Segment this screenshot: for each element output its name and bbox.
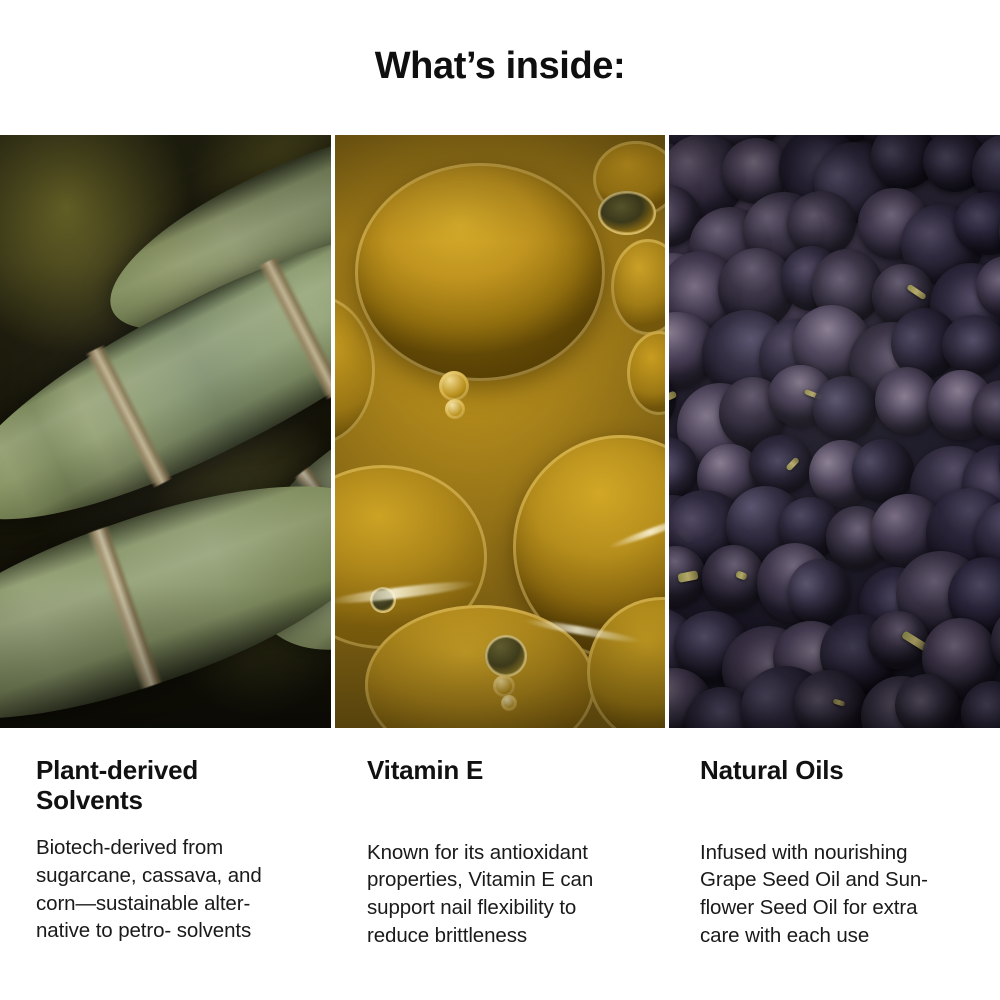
- grapes-photo: [669, 135, 1000, 728]
- column-body: Infused with nourishing Grape Seed Oil a…: [700, 839, 978, 950]
- column-plant-derived-solvents: Plant-derived Solvents Biotech-derived f…: [0, 728, 331, 1000]
- oil-bubble-large: [355, 163, 605, 381]
- oil-bubble-small: [445, 399, 465, 419]
- ingredients-infographic: What’s inside:: [0, 0, 1000, 1000]
- column-heading: Natural Oils: [700, 756, 978, 786]
- header-bar: What’s inside:: [0, 0, 1000, 135]
- column-heading: Vitamin E: [367, 756, 648, 786]
- oil-bubble-dark: [598, 191, 656, 235]
- grape: [942, 315, 1000, 374]
- grape: [788, 559, 851, 625]
- sugarcane-node: [87, 526, 163, 690]
- sugarcane-node: [85, 344, 173, 488]
- grape: [813, 376, 878, 441]
- oil-bubble-small: [501, 695, 517, 711]
- text-strip: Plant-derived Solvents Biotech-derived f…: [0, 728, 1000, 1000]
- oil-bubbles-photo: [335, 135, 665, 728]
- grape: [702, 545, 765, 611]
- page-title: What’s inside:: [375, 47, 626, 89]
- column-body: Biotech-derived from sugarcane, cassava,…: [36, 834, 309, 945]
- grape: [794, 670, 865, 728]
- oil-bubble-small: [485, 635, 527, 677]
- grape: [749, 435, 813, 494]
- column-heading: Plant-derived Solvents: [36, 756, 309, 815]
- sugarcane-node: [258, 256, 331, 400]
- image-strip: [0, 135, 1000, 728]
- column-vitamin-e: Vitamin E Known for its antioxidant prop…: [335, 728, 666, 1000]
- column-natural-oils: Natural Oils Infused with nourishing Gra…: [670, 728, 1000, 1000]
- column-body: Known for its antioxidant properties, Vi…: [367, 839, 648, 950]
- oil-bubble-small: [439, 371, 469, 401]
- sugarcane-photo: [0, 135, 331, 728]
- oil-bubble-small: [493, 675, 515, 697]
